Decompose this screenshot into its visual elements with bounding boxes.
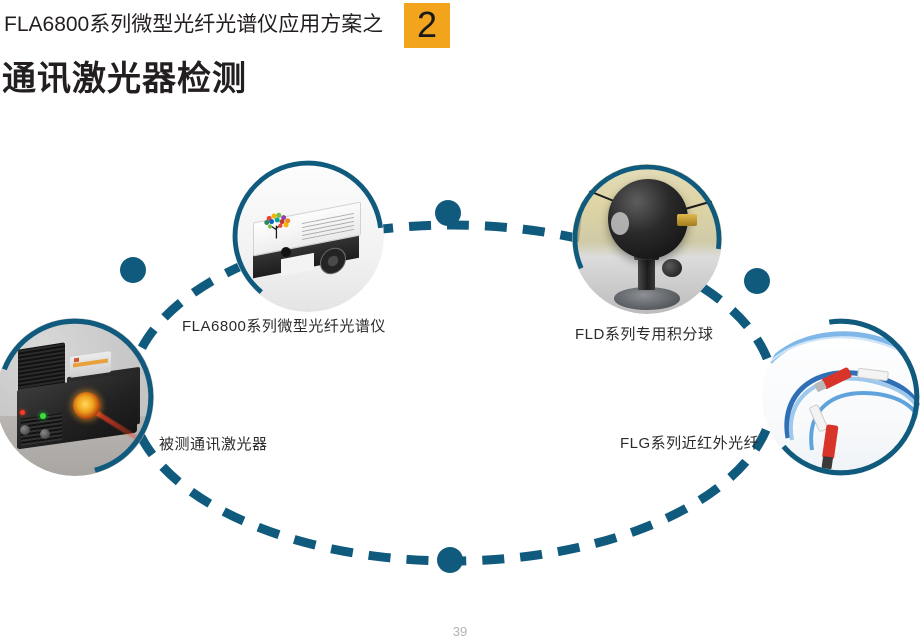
page-number: 39 — [0, 624, 920, 639]
tree-logo-icon — [259, 212, 295, 239]
photo-bubble-spectrometer — [232, 160, 384, 312]
photo-bubble-laser — [0, 318, 154, 476]
node-right-upper — [744, 268, 770, 294]
communication-laser-device-photo — [0, 318, 154, 476]
photo-bubble-optical-fiber — [762, 318, 920, 476]
node-left-upper — [120, 257, 146, 283]
caption-spectrometer: FLA6800系列微型光纤光谱仪 — [182, 317, 386, 337]
integrating-sphere-photo — [572, 164, 722, 314]
fiber-cable-graphic — [762, 318, 920, 476]
node-bottom — [437, 547, 463, 573]
photo-bubble-integrating-sphere — [572, 164, 722, 314]
fiber-optic-spectrometer-photo — [232, 160, 384, 312]
workflow-diagram: FLA6800系列微型光纤光谱仪 FLD系列专用积分球 被测通讯激光器 FLG系… — [0, 0, 920, 644]
near-infrared-optical-fiber-photo — [762, 318, 920, 476]
caption-optical-fiber: FLG系列近红外光纤 — [620, 434, 759, 454]
caption-integrating-sphere: FLD系列专用积分球 — [575, 325, 713, 345]
caption-laser: 被测通讯激光器 — [159, 435, 268, 455]
slide-page: FLA6800系列微型光纤光谱仪应用方案之 2 通讯激光器检测 — [0, 0, 920, 644]
node-top — [435, 200, 461, 226]
